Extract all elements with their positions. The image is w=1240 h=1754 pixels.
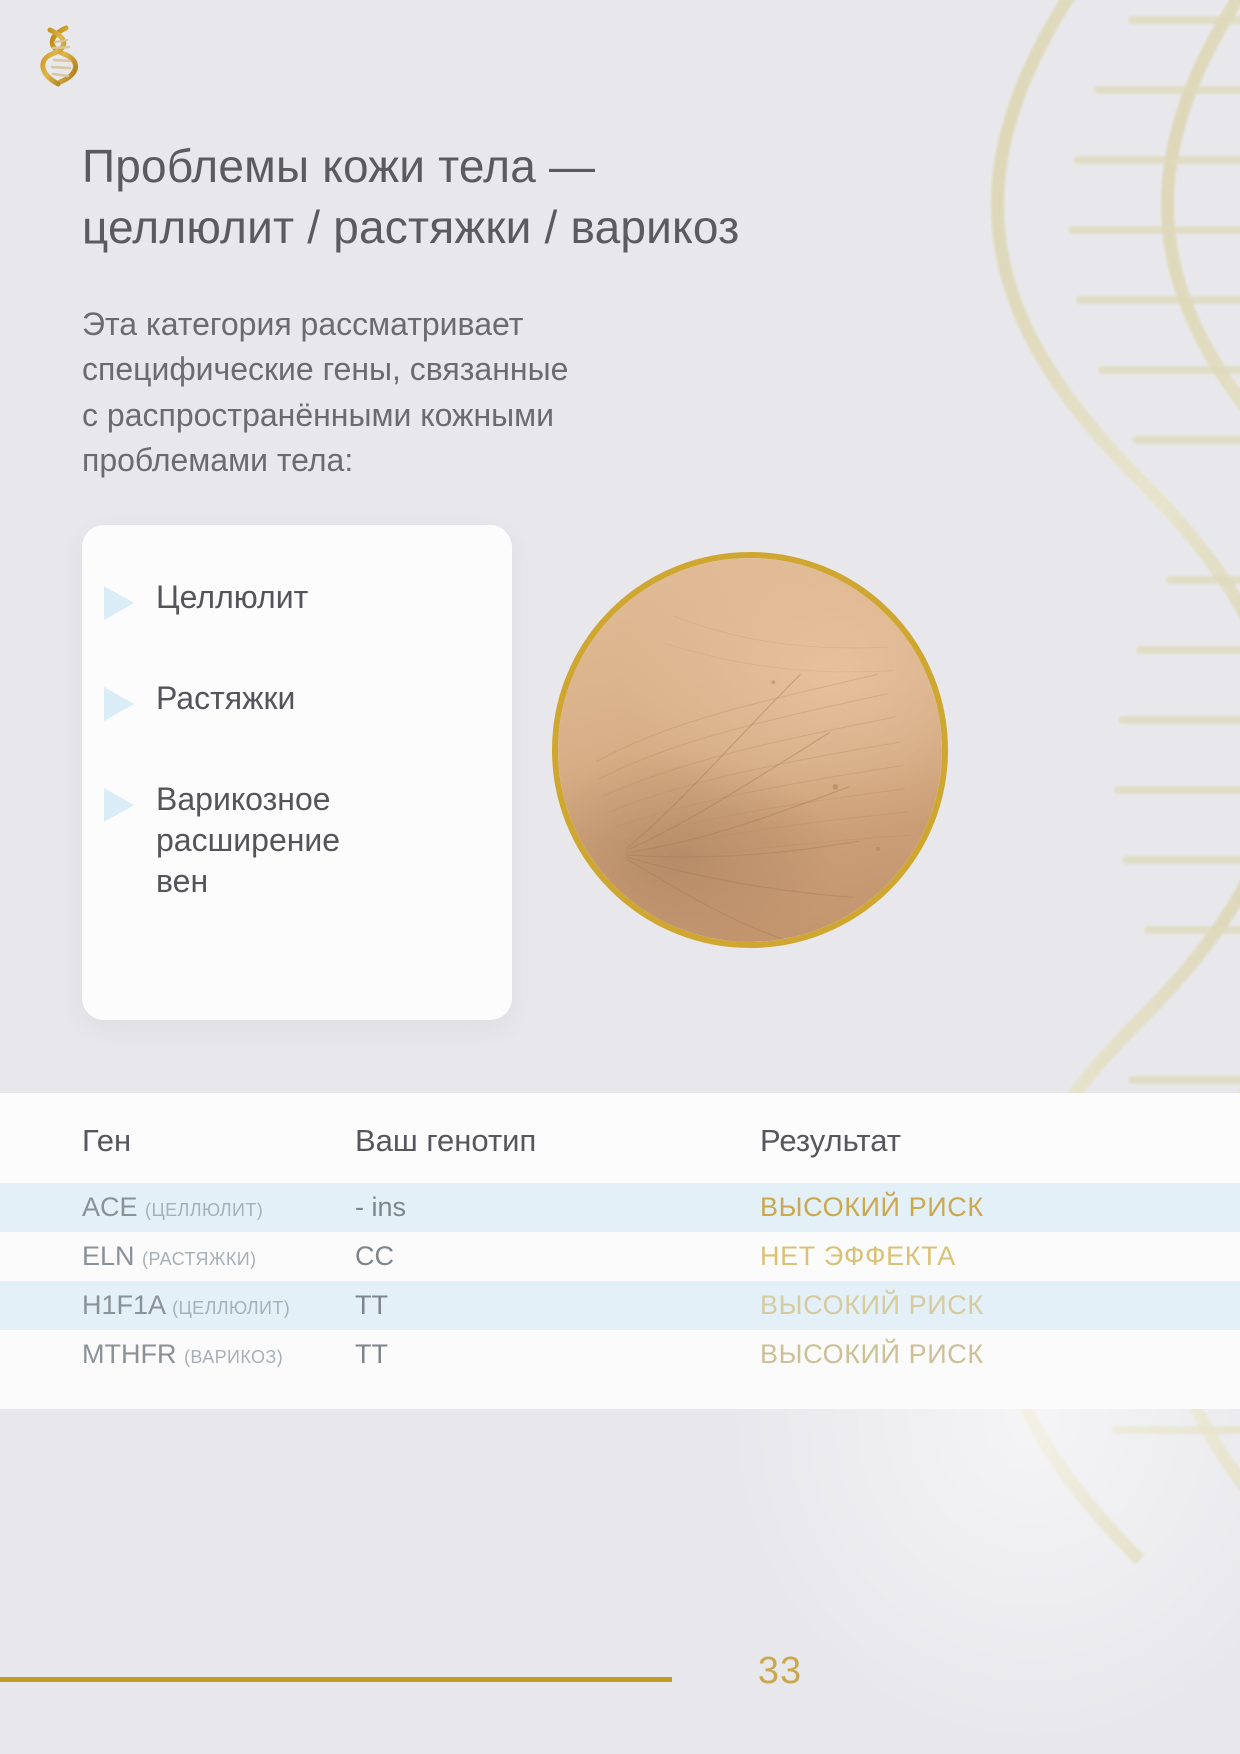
gene-symbol: ELN	[82, 1241, 135, 1271]
cell-genotype: CC	[350, 1232, 750, 1281]
list-item-label: Растяжки	[156, 678, 295, 719]
cell-gene: ACE (ЦЕЛЛЮЛИТ)	[0, 1183, 350, 1232]
cell-result: НЕТ ЭФФЕКТА	[750, 1232, 1240, 1281]
conditions-card: Целлюлит Растяжки Варикозное расширение …	[82, 525, 512, 1020]
cell-genotype: - ins	[350, 1183, 750, 1232]
gene-symbol: ACE	[82, 1192, 138, 1222]
cell-result: ВЫСОКИЙ РИСК	[750, 1330, 1240, 1379]
page-title: Проблемы кожи тела — целлюлит / растяжки…	[82, 136, 942, 258]
list-item-label: Варикозное расширение вен	[156, 779, 340, 902]
table-row: ACE (ЦЕЛЛЮЛИТ) - ins ВЫСОКИЙ РИСК	[0, 1183, 1240, 1232]
column-header-gene: Ген	[0, 1093, 350, 1183]
footer-rule	[0, 1677, 672, 1682]
page-lede: Эта категория рассматривает специфически…	[82, 302, 782, 484]
list-item: Растяжки	[104, 678, 494, 721]
photo-image	[558, 558, 942, 942]
gene-note: (ЦЕЛЛЮЛИТ)	[145, 1200, 263, 1220]
triangle-right-icon	[104, 687, 134, 721]
triangle-right-icon	[104, 586, 134, 620]
cell-gene: H1F1A (ЦЕЛЛЮЛИТ)	[0, 1281, 350, 1330]
triangle-right-icon	[104, 788, 134, 822]
table-row: ELN (РАСТЯЖКИ) CC НЕТ ЭФФЕКТА	[0, 1232, 1240, 1281]
gene-symbol: MTHFR	[82, 1339, 176, 1369]
gene-note: (ЦЕЛЛЮЛИТ)	[172, 1298, 290, 1318]
cell-genotype: TT	[350, 1281, 750, 1330]
list-item-label: Целлюлит	[156, 577, 308, 618]
table-row: MTHFR (ВАРИКОЗ) TT ВЫСОКИЙ РИСК	[0, 1330, 1240, 1379]
cell-genotype: TT	[350, 1330, 750, 1379]
cell-gene: ELN (РАСТЯЖКИ)	[0, 1232, 350, 1281]
cell-result: ВЫСОКИЙ РИСК	[750, 1183, 1240, 1232]
table-header-row: Ген Ваш генотип Результат	[0, 1093, 1240, 1183]
gene-symbol: H1F1A	[82, 1290, 165, 1320]
column-header-genotype: Ваш генотип	[350, 1093, 750, 1183]
conditions-list: Целлюлит Растяжки Варикозное расширение …	[104, 577, 494, 902]
skin-closeup-photo	[552, 552, 948, 948]
gene-note: (РАСТЯЖКИ)	[142, 1249, 256, 1269]
gene-results-table: Ген Ваш генотип Результат ACE (ЦЕЛЛЮЛИТ)…	[0, 1093, 1240, 1409]
dna-helix-icon	[30, 20, 90, 92]
column-header-result: Результат	[750, 1093, 1240, 1183]
cell-result: ВЫСОКИЙ РИСК	[750, 1281, 1240, 1330]
table-footer-spacer	[0, 1379, 1240, 1409]
list-item: Варикозное расширение вен	[104, 779, 494, 902]
slide-page: Проблемы кожи тела — целлюлит / растяжки…	[0, 0, 1240, 1754]
table-row: H1F1A (ЦЕЛЛЮЛИТ) TT ВЫСОКИЙ РИСК	[0, 1281, 1240, 1330]
page-number: 33	[700, 1650, 860, 1693]
cell-gene: MTHFR (ВАРИКОЗ)	[0, 1330, 350, 1379]
gene-note: (ВАРИКОЗ)	[184, 1347, 283, 1367]
list-item: Целлюлит	[104, 577, 494, 620]
